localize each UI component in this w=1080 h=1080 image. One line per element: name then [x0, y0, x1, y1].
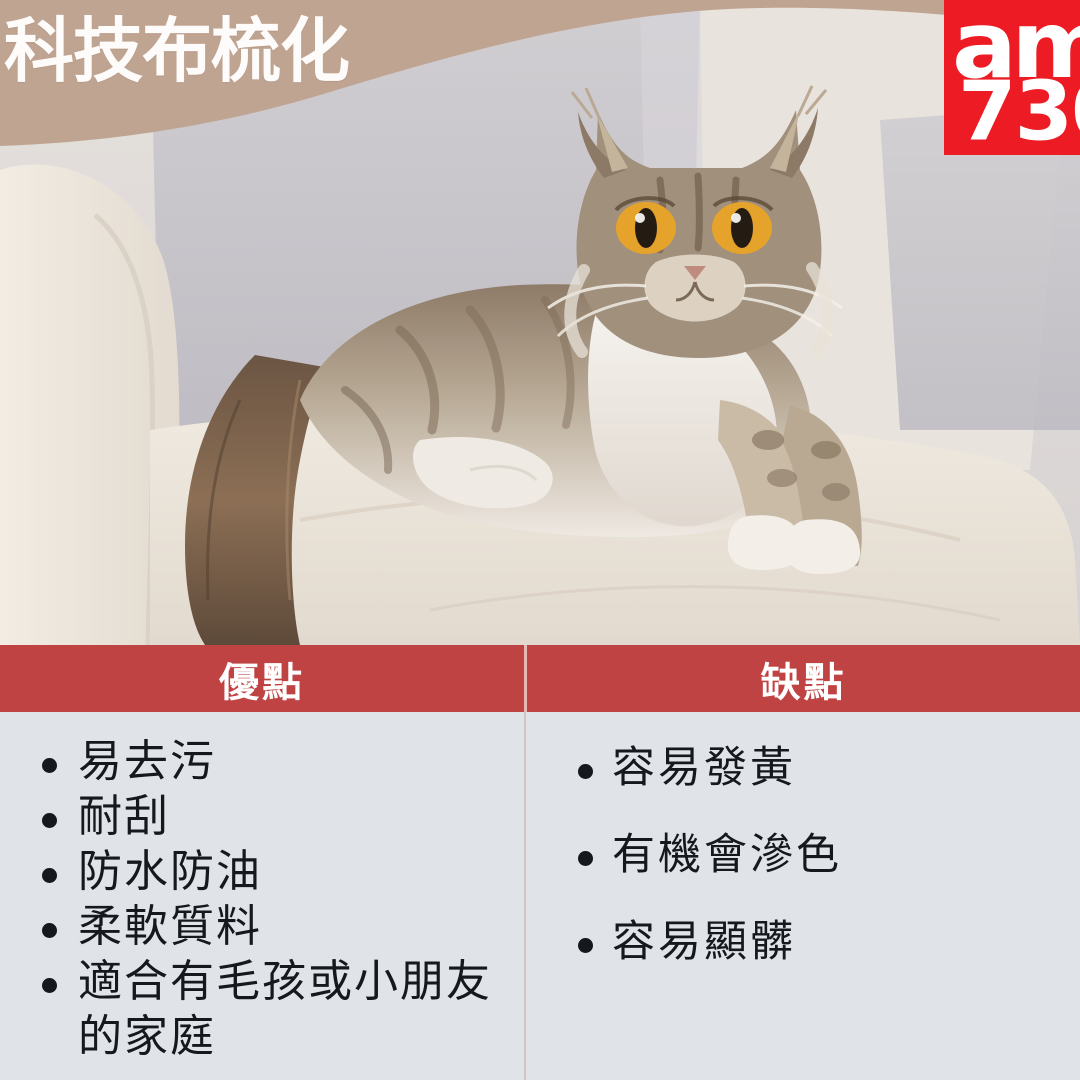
- page-title: 科技布梳化: [4, 12, 349, 90]
- comparison-body: 易去污 耐刮 防水防油 柔軟質料 適合有毛孩或小朋友的家庭 容易發黃 有機會滲色…: [0, 712, 1080, 1080]
- list-item: 適合有毛孩或小朋友的家庭: [32, 954, 510, 1064]
- header-pros: 優點: [0, 645, 524, 712]
- list-item: 柔軟質料: [32, 899, 510, 954]
- comparison-header: 優點 缺點: [0, 645, 1080, 712]
- list-item: 防水防油: [32, 844, 510, 899]
- list-item: 耐刮: [32, 789, 510, 844]
- cons-column: 容易發黃 有機會滲色 容易顯髒: [526, 712, 1080, 1080]
- header-cons: 缺點: [527, 645, 1080, 712]
- list-item: 易去污: [32, 734, 510, 789]
- list-item: 有機會滲色: [572, 829, 1066, 881]
- infographic-card: 科技布梳化 am 730 優點 缺點 易去污 耐刮 防水防油 柔軟質料 適合有毛…: [0, 0, 1080, 1080]
- pros-list: 易去污 耐刮 防水防油 柔軟質料 適合有毛孩或小朋友的家庭: [32, 734, 510, 1064]
- am730-logo[interactable]: am 730: [944, 0, 1080, 155]
- pros-column: 易去污 耐刮 防水防油 柔軟質料 適合有毛孩或小朋友的家庭: [0, 712, 524, 1080]
- list-item: 容易顯髒: [572, 916, 1066, 968]
- list-item: 容易發黃: [572, 742, 1066, 794]
- hero-photo: [0, 0, 1080, 645]
- logo-730-text: 730: [958, 66, 1080, 155]
- cons-list: 容易發黃 有機會滲色 容易顯髒: [572, 742, 1066, 968]
